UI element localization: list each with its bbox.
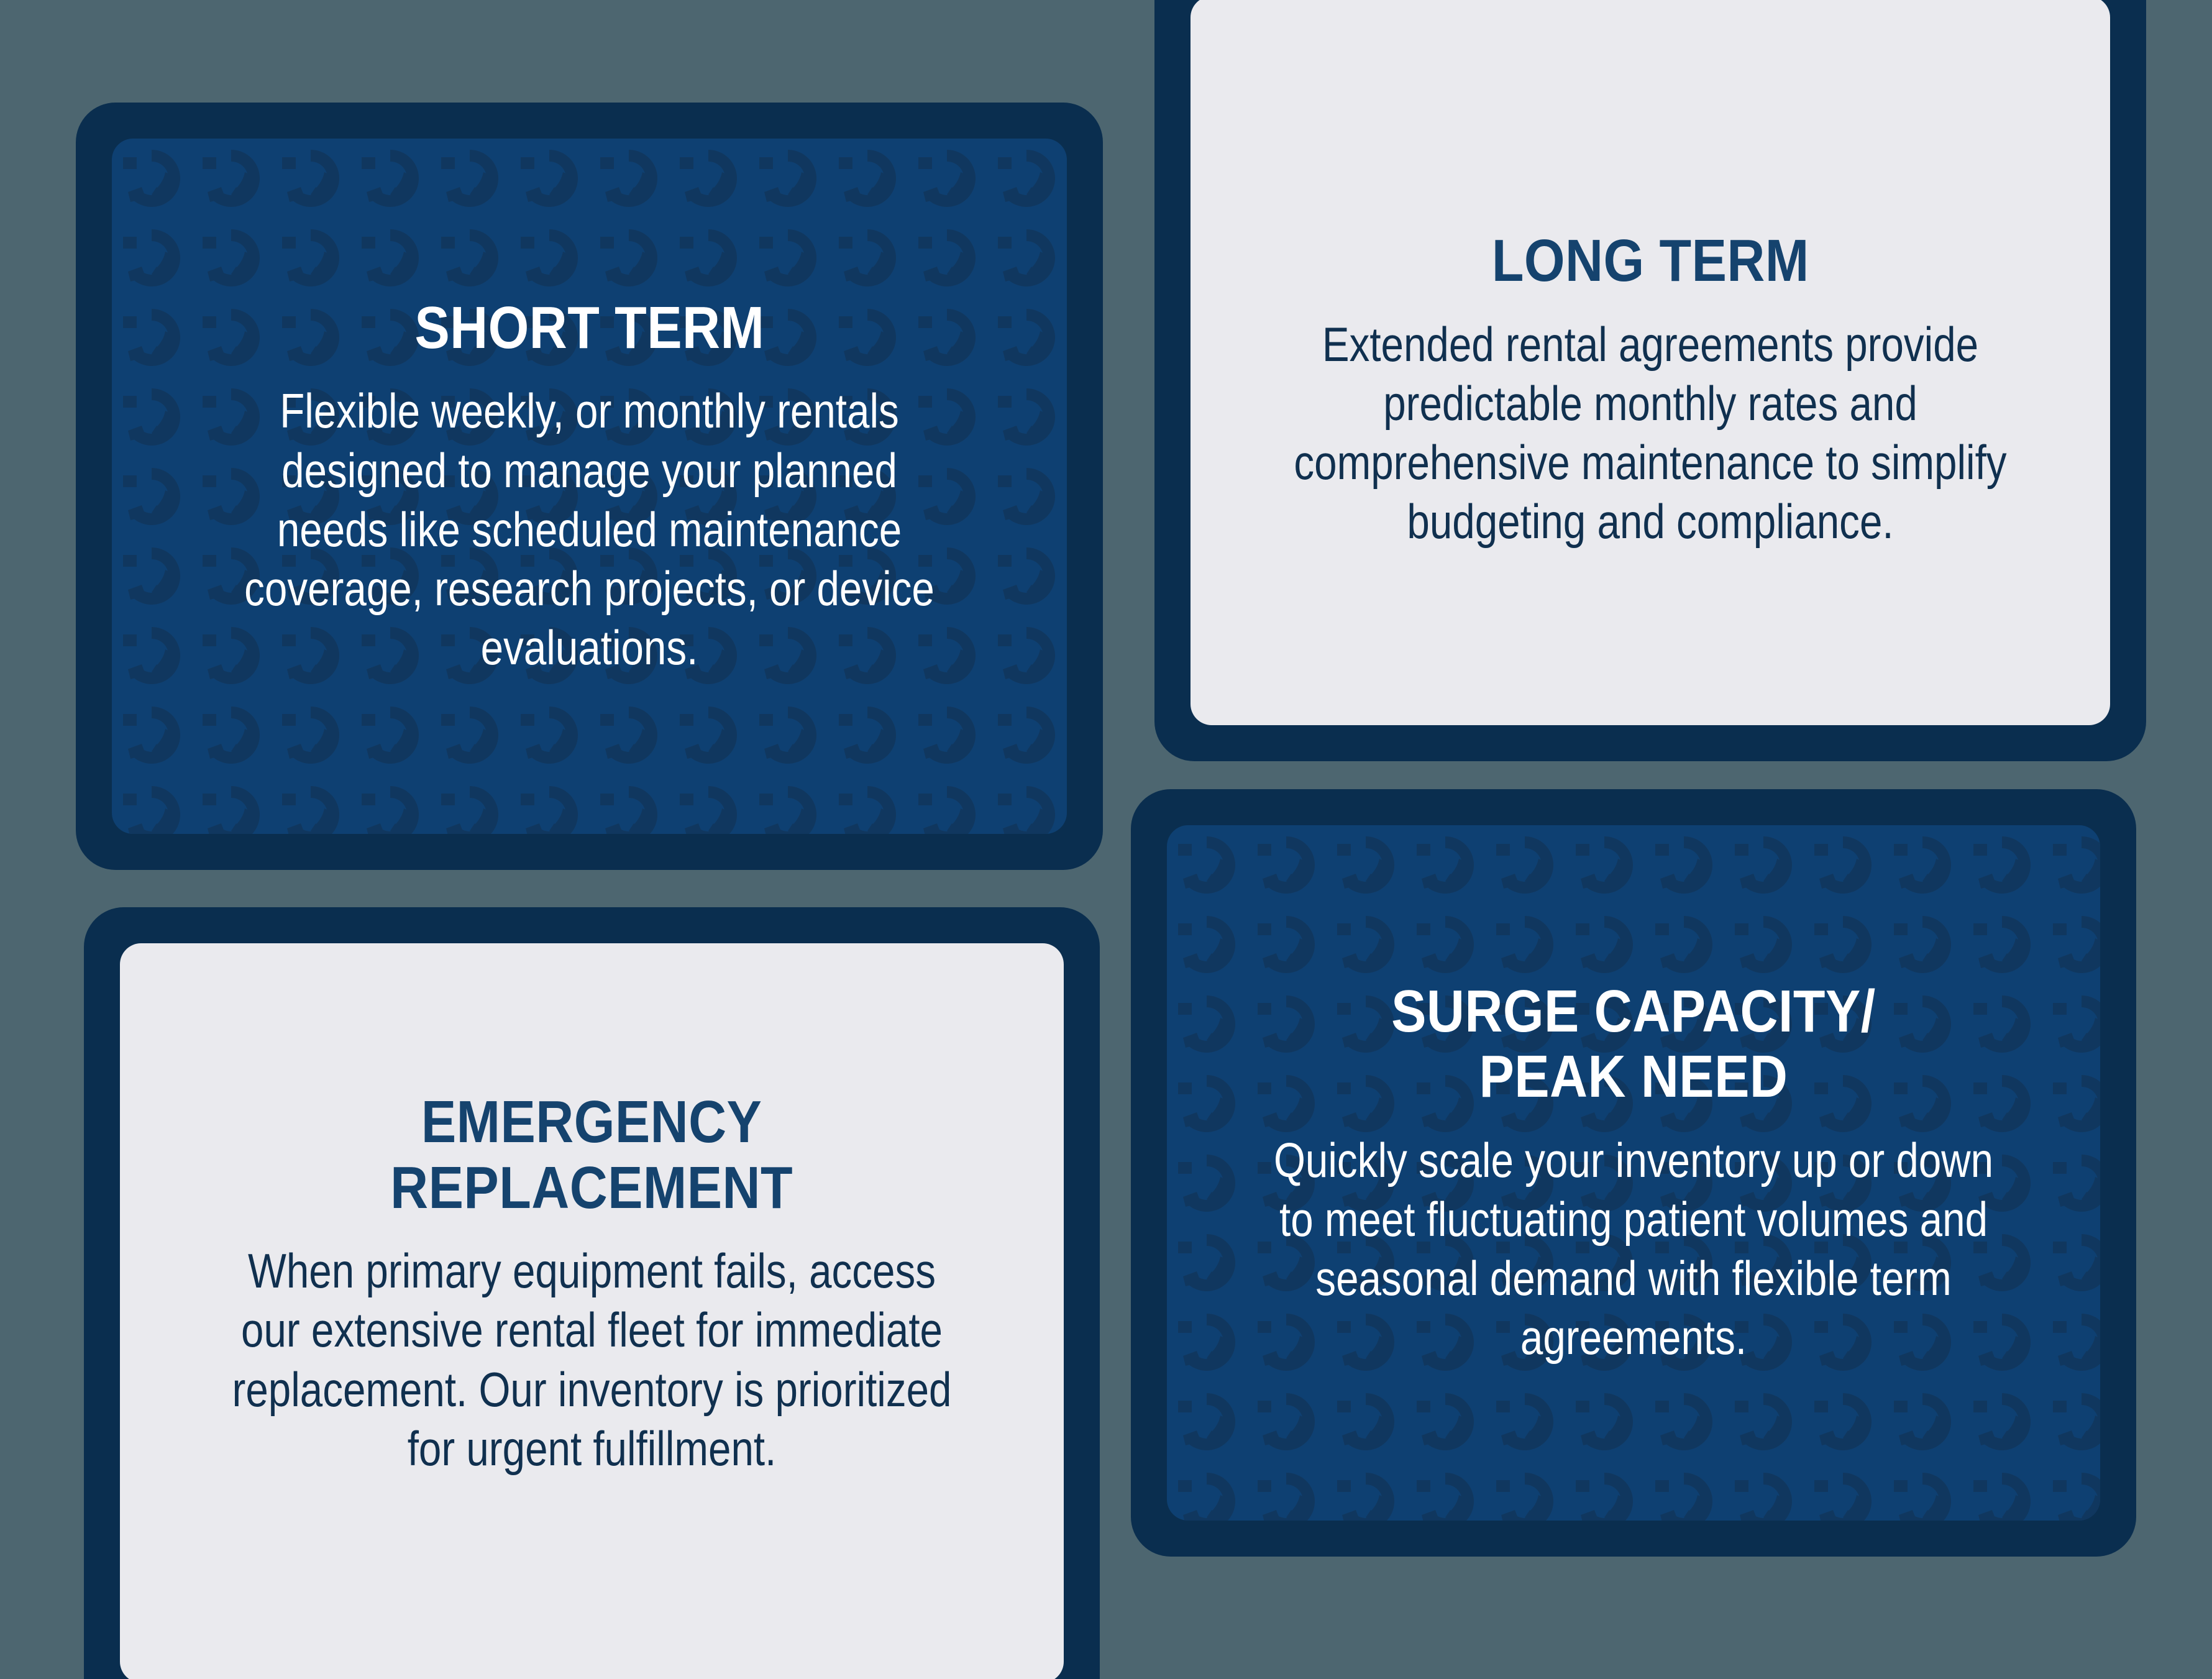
- card-surge-capacity-inner: SURGE CAPACITY/PEAK NEED Quickly scale y…: [1167, 825, 2100, 1521]
- card-emergency-replacement-title: EMERGENCYREPLACEMENT: [391, 1089, 793, 1220]
- card-surge-capacity-body: Quickly scale your inventory up or down …: [1266, 1131, 2001, 1368]
- card-short-term-inner: SHORT TERM Flexible weekly, or monthly r…: [112, 139, 1067, 834]
- card-long-term-inner: LONG TERM Extended rental agreements pro…: [1191, 0, 2110, 725]
- card-short-term-body: Flexible weekly, or monthly rentals desi…: [227, 382, 952, 677]
- card-emergency-replacement-body: When primary equipment fails, access our…: [219, 1242, 964, 1478]
- card-emergency-replacement-inner: EMERGENCYREPLACEMENT When primary equipm…: [120, 943, 1064, 1679]
- card-long-term[interactable]: LONG TERM Extended rental agreements pro…: [1154, 0, 2146, 761]
- card-long-term-body: Extended rental agreements provide predi…: [1288, 315, 2013, 552]
- card-emergency-replacement[interactable]: EMERGENCYREPLACEMENT When primary equipm…: [84, 907, 1100, 1679]
- infographic-canvas: SHORT TERM Flexible weekly, or monthly r…: [0, 0, 2212, 1679]
- card-short-term-title: SHORT TERM: [414, 295, 764, 361]
- card-surge-capacity[interactable]: SURGE CAPACITY/PEAK NEED Quickly scale y…: [1131, 789, 2136, 1557]
- card-long-term-title: LONG TERM: [1492, 228, 1809, 294]
- card-short-term[interactable]: SHORT TERM Flexible weekly, or monthly r…: [76, 103, 1103, 870]
- card-surge-capacity-title: SURGE CAPACITY/PEAK NEED: [1391, 979, 1876, 1110]
